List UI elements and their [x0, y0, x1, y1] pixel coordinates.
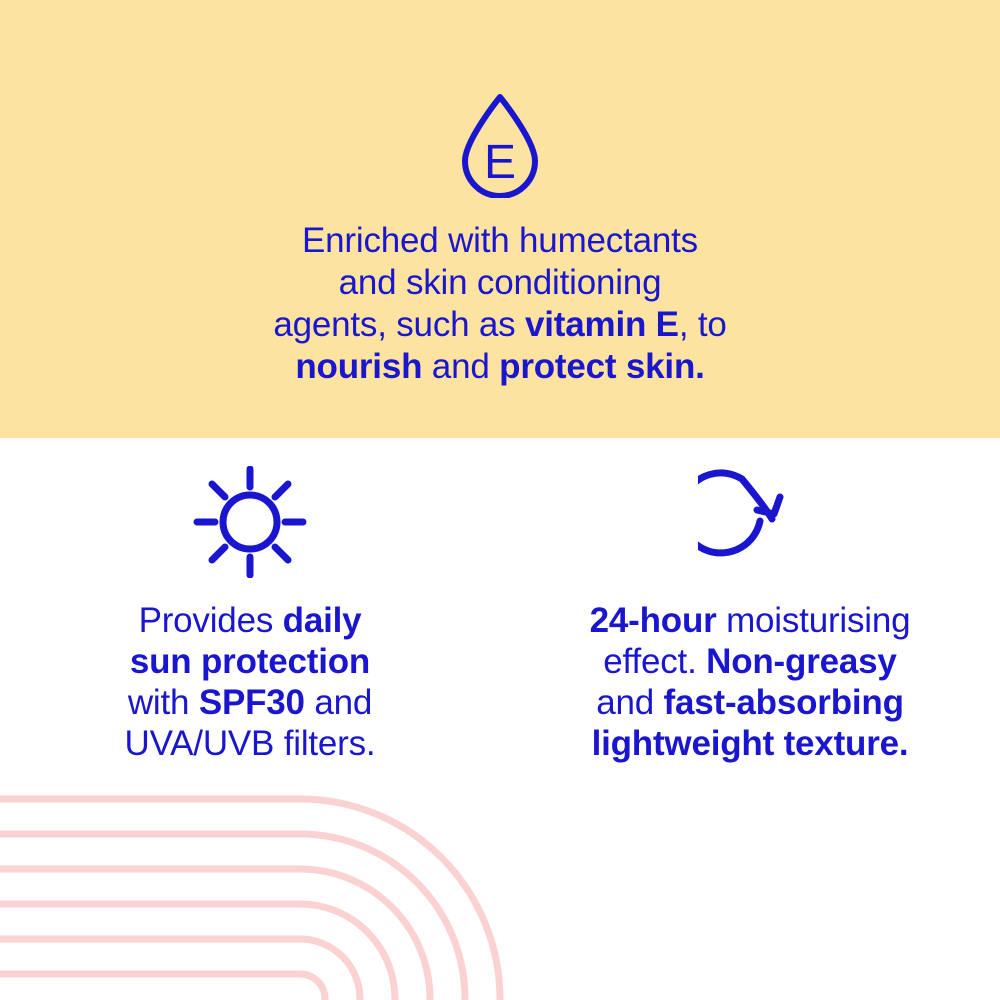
hero-section: E Enriched with humectantsand skin condi…: [0, 0, 1000, 438]
hero-rich-text: Enriched with humectantsand skin conditi…: [273, 221, 726, 386]
features-section: Provides dailysun protectionwith SPF30 a…: [0, 438, 1000, 798]
moisture-refresh-droplet-icon: [698, 466, 802, 578]
feature-moisturising: 24-hour moisturisingeffect. Non-greasyan…: [500, 438, 1000, 798]
feature-sun-text: Provides dailysun protectionwith SPF30 a…: [60, 600, 440, 764]
vitamin-e-droplet-icon: E: [457, 92, 543, 198]
hero-body-text: Enriched with humectantsand skin conditi…: [180, 220, 820, 388]
droplet-letter: E: [484, 136, 516, 189]
feature-sun-rich-text: Provides dailysun protectionwith SPF30 a…: [125, 601, 376, 763]
poster-canvas: E Enriched with humectantsand skin condi…: [0, 0, 1000, 1000]
sun-icon: [190, 466, 310, 578]
feature-sun-protection: Provides dailysun protectionwith SPF30 a…: [0, 438, 500, 798]
feature-moisturising-rich-text: 24-hour moisturisingeffect. Non-greasyan…: [590, 601, 911, 763]
feature-moisturising-text: 24-hour moisturisingeffect. Non-greasyan…: [530, 600, 970, 764]
